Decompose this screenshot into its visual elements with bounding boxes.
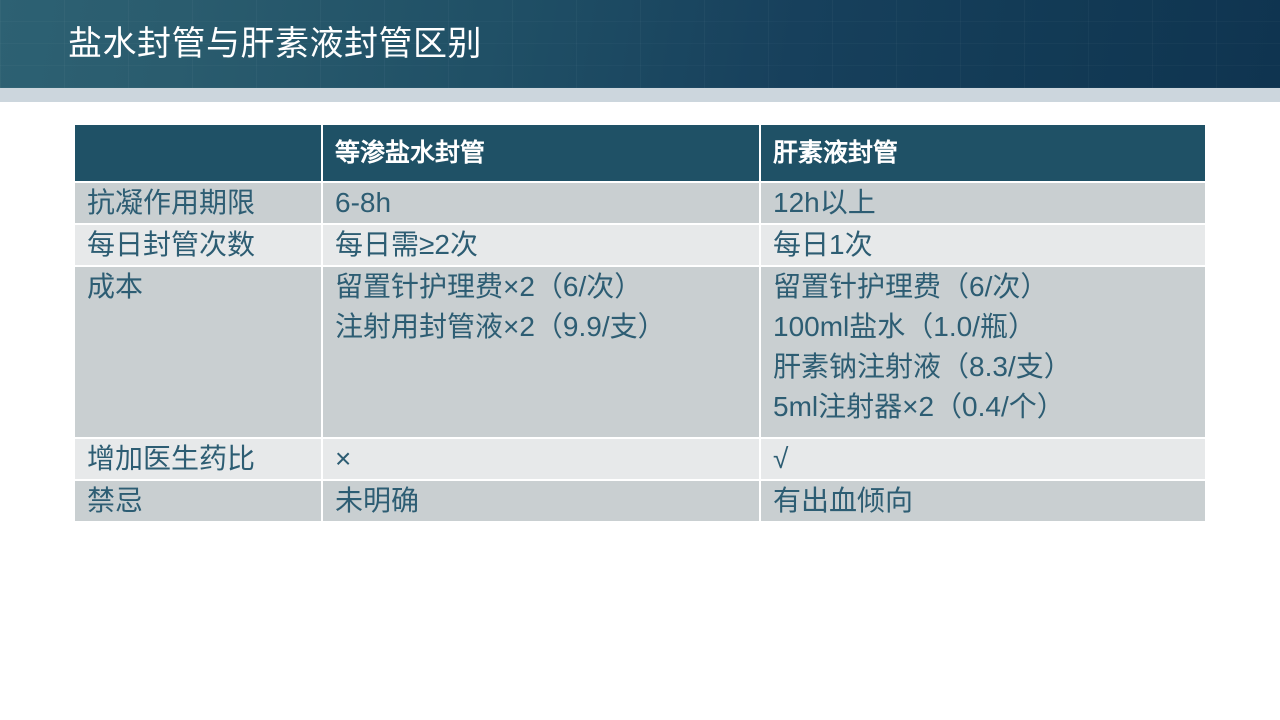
cell-saline-contraindication: 未明确 <box>322 480 760 522</box>
cell-line: 注射用封管液×2（9.9/支） <box>335 307 759 347</box>
table-row: 禁忌 未明确 有出血倾向 <box>75 480 1205 522</box>
cell-heparin-daily-flush-count: 每日1次 <box>760 224 1205 266</box>
cell-heparin-increase-drug-ratio: √ <box>760 438 1205 480</box>
page-title: 盐水封管与肝素液封管区别 <box>68 20 482 68</box>
cell-heparin-cost: 留置针护理费（6/次） 100ml盐水（1.0/瓶） 肝素钠注射液（8.3/支）… <box>760 266 1205 438</box>
cell-line: 肝素钠注射液（8.3/支） <box>773 347 1205 387</box>
title-banner: 盐水封管与肝素液封管区别 <box>0 0 1280 88</box>
cell-saline-cost: 留置针护理费×2（6/次） 注射用封管液×2（9.9/支） <box>322 266 760 438</box>
cell-line: 留置针护理费×2（6/次） <box>335 267 759 307</box>
table-header: 等渗盐水封管 肝素液封管 <box>75 125 1205 182</box>
table-body: 抗凝作用期限 6-8h 12h以上 每日封管次数 每日需≥2次 每日1次 <box>75 182 1205 522</box>
cell-line: 6-8h <box>335 183 759 223</box>
cell-heparin-anticoagulation-duration: 12h以上 <box>760 182 1205 224</box>
cell-line: 未明确 <box>335 481 759 521</box>
row-label-contraindication: 禁忌 <box>75 480 322 522</box>
comparison-table: 等渗盐水封管 肝素液封管 抗凝作用期限 6-8h 12h以上 每日封管次数 <box>75 125 1205 523</box>
cell-heparin-contraindication: 有出血倾向 <box>760 480 1205 522</box>
table-row: 抗凝作用期限 6-8h 12h以上 <box>75 182 1205 224</box>
column-header-saline: 等渗盐水封管 <box>322 125 760 182</box>
row-label-increase-drug-ratio: 增加医生药比 <box>75 438 322 480</box>
comparison-table-container: 等渗盐水封管 肝素液封管 抗凝作用期限 6-8h 12h以上 每日封管次数 <box>75 125 1205 523</box>
table-row: 增加医生药比 × √ <box>75 438 1205 480</box>
cell-line: 有出血倾向 <box>773 481 1205 521</box>
row-label-cost: 成本 <box>75 266 322 438</box>
table-row: 成本 留置针护理费×2（6/次） 注射用封管液×2（9.9/支） 留置针护理费（… <box>75 266 1205 438</box>
accent-bar <box>0 88 1280 102</box>
slide-canvas: 盐水封管与肝素液封管区别 等渗盐水封管 肝素液封管 抗凝作用期限 6-8h <box>0 0 1280 720</box>
cell-saline-increase-drug-ratio: × <box>322 438 760 480</box>
check-mark-icon: √ <box>773 439 1205 479</box>
cell-saline-anticoagulation-duration: 6-8h <box>322 182 760 224</box>
column-header-heparin: 肝素液封管 <box>760 125 1205 182</box>
cell-line: 每日1次 <box>773 225 1205 265</box>
cell-line: 12h以上 <box>773 183 1205 223</box>
row-label-daily-flush-count: 每日封管次数 <box>75 224 322 266</box>
table-row: 每日封管次数 每日需≥2次 每日1次 <box>75 224 1205 266</box>
row-label-anticoagulation-duration: 抗凝作用期限 <box>75 182 322 224</box>
table-header-row: 等渗盐水封管 肝素液封管 <box>75 125 1205 182</box>
cell-line: 100ml盐水（1.0/瓶） <box>773 307 1205 347</box>
cell-line: 留置针护理费（6/次） <box>773 267 1205 307</box>
cell-line: 每日需≥2次 <box>335 225 759 265</box>
cell-line: 5ml注射器×2（0.4/个） <box>773 387 1205 427</box>
column-header-blank <box>75 125 322 182</box>
cross-mark-icon: × <box>335 439 759 479</box>
cell-saline-daily-flush-count: 每日需≥2次 <box>322 224 760 266</box>
